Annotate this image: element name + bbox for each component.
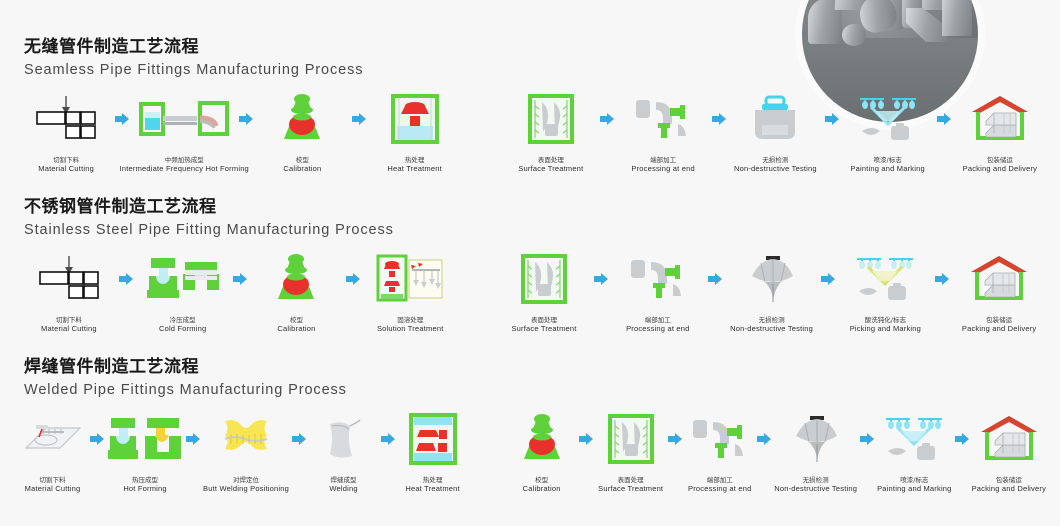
step-label-en: Material Cutting <box>38 164 94 174</box>
step-label: 校型Calibration <box>277 316 315 334</box>
section-stainless: 不锈钢管件制造工艺流程 Stainless Steel Pipe Fitting… <box>0 196 1060 334</box>
step-label-en: Heat Treatment <box>387 164 442 174</box>
step-label-en: Solution Treatment <box>377 324 444 334</box>
step-label-cn: 切割下料 <box>41 316 97 324</box>
step-label-en: Packing and Delivery <box>972 484 1046 494</box>
step-label-en: Processing at end <box>631 164 694 174</box>
step-label-en: Non-destructive Testing <box>734 164 817 174</box>
flow-arrow-icon <box>87 410 107 468</box>
process-step-heat-treatment: 热处理Heat Treatment <box>369 90 461 174</box>
material-cutting-icon <box>35 90 97 148</box>
step-label-cn: 校型 <box>523 476 561 484</box>
butt-welding-pos-icon <box>217 410 275 468</box>
step-label: 喷漆/标志Painting and Marking <box>877 476 951 494</box>
process-step-painting-marking: 喷漆/标志Painting and Marking <box>842 90 934 174</box>
surface-treatment-icon <box>521 250 567 308</box>
plate-cutting-icon <box>22 410 84 468</box>
flow-arrow-icon <box>116 250 136 308</box>
step-label: 热处理Heat Treatment <box>405 476 460 494</box>
flow-arrow-icon <box>343 250 363 308</box>
process-step-painting-marking: 喷漆/标志Painting and Marking <box>877 410 951 494</box>
process-step-welding: 焊缝成型Welding <box>309 410 378 494</box>
cold-forming-icon <box>145 250 221 308</box>
section-heading: 焊缝管件制造工艺流程 Welded Pipe Fittings Manufact… <box>0 356 1060 400</box>
step-label-cn: 表面处理 <box>511 316 576 324</box>
step-label-cn: 切割下料 <box>25 476 81 484</box>
step-label-cn: 热处理 <box>405 476 460 484</box>
step-label: 切割下料Material Cutting <box>25 476 81 494</box>
process-step-non-destructive-2: 无损检测Non-destructive Testing <box>725 250 819 334</box>
step-label-en: Processing at end <box>688 484 751 494</box>
step-label-cn: 包装储运 <box>972 476 1046 484</box>
heat-treatment-2-icon <box>409 410 457 468</box>
step-label: 包装储运Packing and Delivery <box>963 156 1037 174</box>
process-step-solution-treatment: 固溶处理Solution Treatment <box>363 250 457 334</box>
step-label: 无损检测Non-destructive Testing <box>734 156 817 174</box>
welding-icon <box>322 410 366 468</box>
step-label-cn: 热处理 <box>387 156 442 164</box>
flange-fitting <box>942 0 972 36</box>
step-label-en: Processing at end <box>626 324 689 334</box>
step-label-en: Hot Forming <box>123 484 166 494</box>
process-step-processing-at-end: 端部加工Processing at end <box>617 90 709 174</box>
processing-at-end-icon <box>691 410 749 468</box>
process-step-material-cutting: 切割下料Material Cutting <box>22 250 116 334</box>
process-step-non-destructive: 无损检测Non-destructive Testing <box>729 90 821 174</box>
step-label: 校型Calibration <box>523 476 561 494</box>
section-welded: 焊缝管件制造工艺流程 Welded Pipe Fittings Manufact… <box>0 356 1060 494</box>
step-label-cn: 切割下料 <box>38 156 94 164</box>
step-label-cn: 酸洗钝化/标志 <box>850 316 921 324</box>
step-label-cn: 无损检测 <box>734 156 817 164</box>
process-step-non-destructive-2: 无损检测Non-destructive Testing <box>774 410 857 494</box>
flow-arrow-icon <box>934 90 954 148</box>
step-label-cn: 中频加热成型 <box>120 156 249 164</box>
step-label-cn: 包装储运 <box>963 156 1037 164</box>
step-label: 无损检测Non-destructive Testing <box>774 476 857 494</box>
process-step-butt-welding-pos: 对焊定位Butt Welding Positioning <box>203 410 289 494</box>
process-step-hot-forming: 热压成型Hot Forming <box>107 410 183 494</box>
step-label-cn: 无损检测 <box>730 316 813 324</box>
process-step-heat-treatment-2: 热处理Heat Treatment <box>398 410 467 494</box>
step-label-cn: 热压成型 <box>123 476 166 484</box>
step-label: 无损检测Non-destructive Testing <box>730 316 813 334</box>
step-label-en: Intermediate Frequency Hot Forming <box>120 164 249 174</box>
step-label: 端部加工Processing at end <box>688 476 751 494</box>
process-step-processing-at-end: 端部加工Processing at end <box>611 250 705 334</box>
step-label-en: Surface Treatment <box>598 484 663 494</box>
flow-arrow-icon <box>932 250 952 308</box>
flow-arrow-icon <box>857 410 877 468</box>
section-title-en: Stainless Steel Pipe Fitting Manufacturi… <box>24 220 1060 240</box>
step-label-en: Painting and Marking <box>877 484 951 494</box>
step-label: 冷压成型Cold Forming <box>159 316 206 334</box>
step-label: 包装储运Packing and Delivery <box>962 316 1036 334</box>
painting-marking-icon <box>857 90 919 148</box>
process-step-surface-treatment: 表面处理Surface Treatment <box>497 250 591 334</box>
processing-at-end-icon <box>629 250 687 308</box>
step-label-cn: 对焊定位 <box>203 476 289 484</box>
calibration-icon <box>514 410 570 468</box>
process-step-cold-forming: 冷压成型Cold Forming <box>136 250 230 334</box>
non-destructive-icon <box>750 90 800 148</box>
picking-marking-icon <box>854 250 916 308</box>
step-label: 端部加工Processing at end <box>626 316 689 334</box>
step-label-en: Surface Treatment <box>511 324 576 334</box>
packing-delivery-icon <box>970 90 1030 148</box>
step-label-cn: 冷压成型 <box>159 316 206 324</box>
step-label-en: Cold Forming <box>159 324 206 334</box>
section-title-cn: 无缝管件制造工艺流程 <box>24 36 1060 58</box>
step-label-cn: 固溶处理 <box>377 316 444 324</box>
step-label-en: Butt Welding Positioning <box>203 484 289 494</box>
processing-at-end-icon <box>634 90 692 148</box>
solution-treatment-icon <box>376 250 444 308</box>
process-step-surface-treatment: 表面处理Surface Treatment <box>505 90 597 174</box>
step-label: 切割下料Material Cutting <box>38 156 94 174</box>
process-step-material-cutting: 切割下料Material Cutting <box>20 90 112 174</box>
flow-arrow-icon <box>597 90 617 148</box>
flow-arrow-icon <box>709 90 729 148</box>
step-label: 表面处理Surface Treatment <box>598 476 663 494</box>
step-label: 表面处理Surface Treatment <box>511 316 576 334</box>
section-seamless: 无缝管件制造工艺流程 Seamless Pipe Fittings Manufa… <box>0 36 1060 174</box>
hot-forming-if-icon <box>138 90 230 148</box>
step-label-en: Surface Treatment <box>518 164 583 174</box>
process-step-plate-cutting: 切割下料Material Cutting <box>18 410 87 494</box>
step-label-en: Calibration <box>277 324 315 334</box>
section-title-cn: 不锈钢管件制造工艺流程 <box>24 196 1060 218</box>
process-step-packing-delivery: 包装储运Packing and Delivery <box>972 410 1046 494</box>
surface-treatment-icon <box>528 90 574 148</box>
non-destructive-2-icon <box>791 410 841 468</box>
flow-arrow-icon <box>183 410 203 468</box>
step-label-en: Material Cutting <box>41 324 97 334</box>
step-label-en: Packing and Delivery <box>962 324 1036 334</box>
step-label: 焊缝成型Welding <box>329 476 357 494</box>
step-label: 中频加热成型Intermediate Frequency Hot Forming <box>120 156 249 174</box>
step-label-cn: 表面处理 <box>598 476 663 484</box>
step-label: 酸洗钝化/标志Picking and Marking <box>850 316 921 334</box>
flow-arrow-icon <box>665 410 685 468</box>
process-flow-welded: 切割下料Material Cutting热压成型Hot Forming对焊定位B… <box>0 400 1060 494</box>
step-label-en: Heat Treatment <box>405 484 460 494</box>
process-step-packing-delivery: 包装储运Packing and Delivery <box>952 250 1046 334</box>
step-label-cn: 表面处理 <box>518 156 583 164</box>
material-cutting-icon <box>38 250 100 308</box>
heat-treatment-icon <box>391 90 439 148</box>
step-label-cn: 端部加工 <box>626 316 689 324</box>
flow-arrow-icon <box>822 90 842 148</box>
step-label: 固溶处理Solution Treatment <box>377 316 444 334</box>
step-label-en: Non-destructive Testing <box>730 324 813 334</box>
step-label-en: Non-destructive Testing <box>774 484 857 494</box>
process-step-calibration: 校型Calibration <box>507 410 576 494</box>
packing-delivery-icon <box>969 250 1029 308</box>
step-label-cn: 包装储运 <box>962 316 1036 324</box>
process-step-calibration: 校型Calibration <box>256 90 348 174</box>
process-step-picking-marking: 酸洗钝化/标志Picking and Marking <box>838 250 932 334</box>
step-label: 切割下料Material Cutting <box>41 316 97 334</box>
step-label-en: Material Cutting <box>25 484 81 494</box>
step-label: 对焊定位Butt Welding Positioning <box>203 476 289 494</box>
section-title-en: Seamless Pipe Fittings Manufacturing Pro… <box>24 60 1060 80</box>
flow-arrow-icon <box>236 90 256 148</box>
step-label-cn: 无损检测 <box>774 476 857 484</box>
flow-arrow-icon <box>378 410 398 468</box>
process-step-processing-at-end: 端部加工Processing at end <box>685 410 754 494</box>
non-destructive-2-icon <box>747 250 797 308</box>
step-label-cn: 校型 <box>283 156 321 164</box>
flow-arrow-icon <box>576 410 596 468</box>
process-infographic-page: 无缝管件制造工艺流程 Seamless Pipe Fittings Manufa… <box>0 0 1060 526</box>
step-label-cn: 喷漆/标志 <box>850 156 924 164</box>
step-label-cn: 焊缝成型 <box>329 476 357 484</box>
flow-arrow-icon <box>705 250 725 308</box>
hot-forming-icon <box>107 410 183 468</box>
step-label: 表面处理Surface Treatment <box>518 156 583 174</box>
packing-delivery-icon <box>979 410 1039 468</box>
process-step-packing-delivery: 包装储运Packing and Delivery <box>954 90 1046 174</box>
step-label-cn: 端部加工 <box>631 156 694 164</box>
flow-arrow-icon <box>349 90 369 148</box>
step-label-cn: 端部加工 <box>688 476 751 484</box>
process-step-surface-treatment: 表面处理Surface Treatment <box>596 410 665 494</box>
step-label-en: Picking and Marking <box>850 324 921 334</box>
step-label-en: Calibration <box>283 164 321 174</box>
flow-arrow-icon <box>952 410 972 468</box>
step-label: 包装储运Packing and Delivery <box>972 476 1046 494</box>
step-label: 喷漆/标志Painting and Marking <box>850 156 924 174</box>
step-label-en: Painting and Marking <box>850 164 924 174</box>
process-step-hot-forming-if: 中频加热成型Intermediate Frequency Hot Forming <box>132 90 236 174</box>
surface-treatment-icon <box>608 410 654 468</box>
flow-arrow-icon <box>230 250 250 308</box>
flow-arrow-icon <box>818 250 838 308</box>
flow-arrow-icon <box>112 90 132 148</box>
step-label: 热压成型Hot Forming <box>123 476 166 494</box>
section-title-en: Welded Pipe Fittings Manufacturing Proce… <box>24 380 1060 400</box>
section-heading: 无缝管件制造工艺流程 Seamless Pipe Fittings Manufa… <box>0 36 1060 80</box>
flow-arrow-icon <box>754 410 774 468</box>
section-title-cn: 焊缝管件制造工艺流程 <box>24 356 1060 378</box>
section-heading: 不锈钢管件制造工艺流程 Stainless Steel Pipe Fitting… <box>0 196 1060 240</box>
step-label-en: Welding <box>329 484 357 494</box>
flow-arrow-icon <box>591 250 611 308</box>
step-label-cn: 校型 <box>277 316 315 324</box>
step-label: 校型Calibration <box>283 156 321 174</box>
step-label-en: Calibration <box>523 484 561 494</box>
calibration-icon <box>274 90 330 148</box>
process-flow-seamless: 切割下料Material Cutting中频加热成型Intermediate F… <box>0 80 1060 174</box>
calibration-icon <box>268 250 324 308</box>
step-label-en: Packing and Delivery <box>963 164 1037 174</box>
process-step-calibration: 校型Calibration <box>250 250 344 334</box>
step-label: 端部加工Processing at end <box>631 156 694 174</box>
painting-marking-icon <box>883 410 945 468</box>
step-label: 热处理Heat Treatment <box>387 156 442 174</box>
process-flow-stainless: 切割下料Material Cutting冷压成型Cold Forming校型Ca… <box>0 240 1060 334</box>
step-label-cn: 喷漆/标志 <box>877 476 951 484</box>
flow-arrow-icon <box>289 410 309 468</box>
